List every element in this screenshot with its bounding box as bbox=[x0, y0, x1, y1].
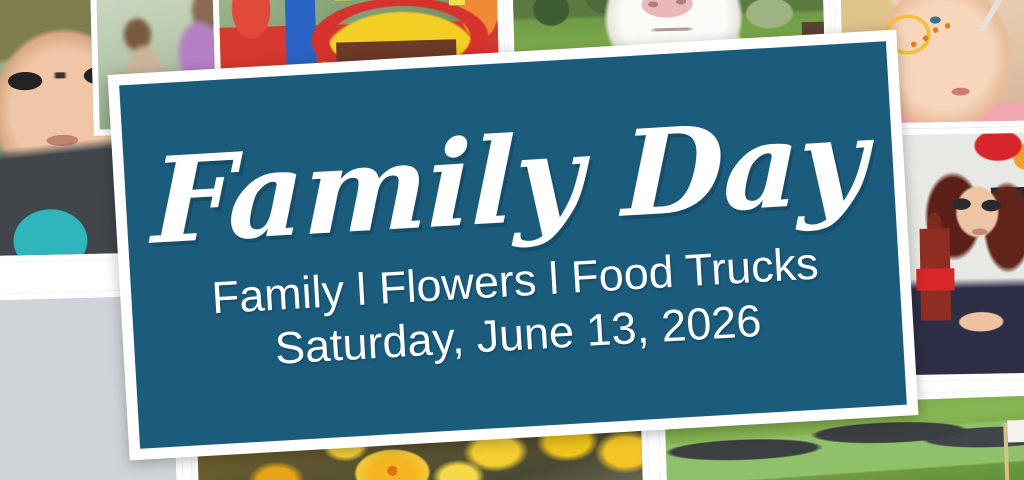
event-banner: Family Day Family l Flowers l Food Truck… bbox=[108, 30, 919, 461]
event-title: Family Day bbox=[152, 101, 868, 260]
event-banner-inner: Family Day Family l Flowers l Food Truck… bbox=[119, 41, 907, 449]
event-poster: Family Day Family l Flowers l Food Truck… bbox=[0, 0, 1024, 480]
